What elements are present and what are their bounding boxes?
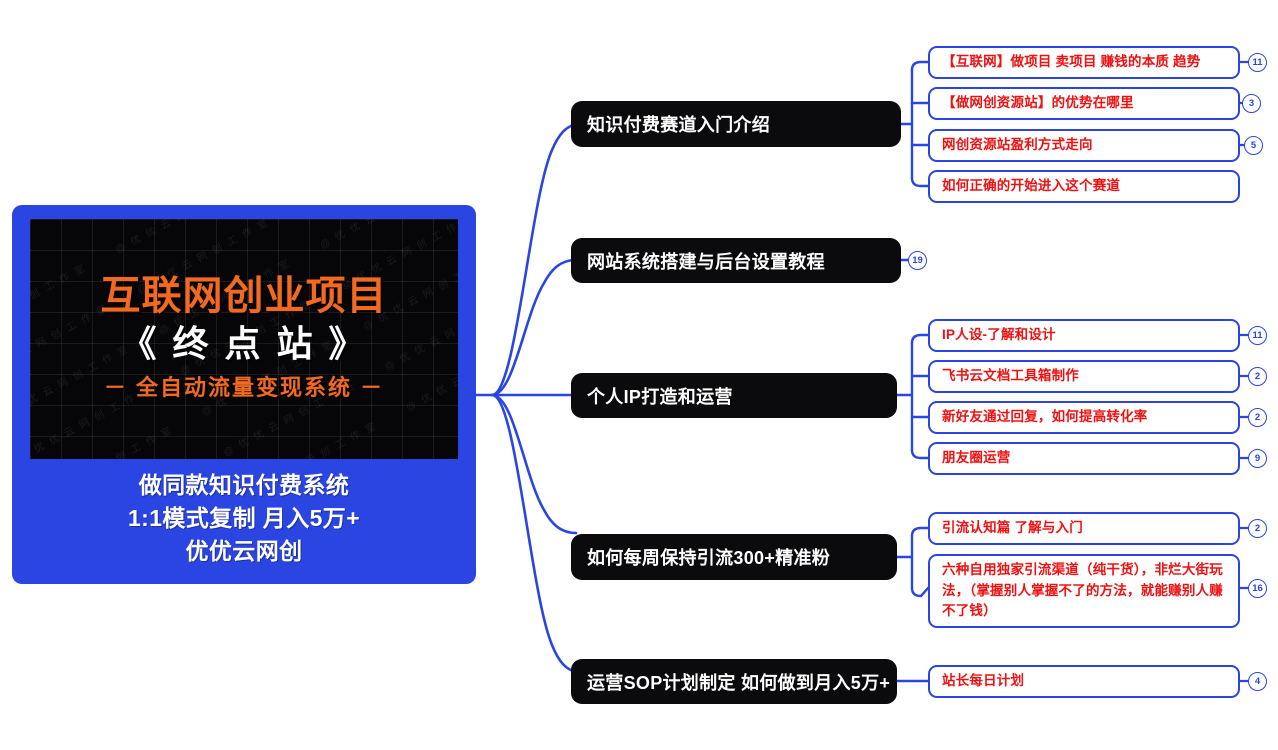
leaf-node-3-1[interactable]: IP人设-了解和设计 (928, 319, 1240, 352)
mindmap-canvas: @优优云网创工作室 @优优云网创工作室 @优优云网创工作室 @优优云网创工作室 … (0, 0, 1278, 750)
leaf-node-4-1-label: 引流认知篇 了解与入门 (942, 518, 1083, 539)
leaf-node-3-3[interactable]: 新好友通过回复，如何提高转化率 (928, 401, 1240, 434)
root-caption: 做同款知识付费系统 1:1模式复制 月入5万+ 优优云网创 (30, 459, 458, 574)
poster-title-line2: 《 终 点 站 》 (120, 321, 367, 368)
root-caption-line-2: 1:1模式复制 月入5万+ (128, 503, 360, 534)
branch-node-3[interactable]: 个人IP打造和运营 (571, 373, 897, 418)
leaf-badge-4-2: 16 (1248, 579, 1267, 598)
leaf-badge-1-3: 5 (1244, 136, 1263, 155)
leaf-node-1-4[interactable]: 如何正确的开始进入这个赛道 (928, 170, 1240, 203)
branch-node-4[interactable]: 如何每周保持引流300+精准粉 (571, 534, 897, 580)
leaf-node-5-1-label: 站长每日计划 (942, 671, 1024, 692)
root-node-card[interactable]: @优优云网创工作室 @优优云网创工作室 @优优云网创工作室 @优优云网创工作室 … (12, 205, 476, 584)
leaf-node-1-3[interactable]: 网创资源站盈利方式走向 (928, 129, 1240, 162)
root-caption-line-1: 做同款知识付费系统 (139, 470, 350, 501)
leaf-node-3-4[interactable]: 朋友圈运营 (928, 442, 1240, 475)
branch-badge-2: 19 (908, 251, 927, 270)
leaf-badge-3-3: 2 (1248, 408, 1267, 427)
branch-node-5-label: 运营SOP计划制定 如何做到月入5万+ (587, 669, 890, 695)
branch-node-2-label: 网站系统搭建与后台设置教程 (587, 248, 825, 274)
leaf-node-3-2-label: 飞书云文档工具箱制作 (942, 366, 1079, 387)
leaf-node-1-4-label: 如何正确的开始进入这个赛道 (942, 176, 1120, 197)
leaf-node-3-1-label: IP人设-了解和设计 (942, 325, 1056, 346)
leaf-badge-3-1: 11 (1248, 326, 1267, 345)
leaf-node-4-2-label: 六种自用独家引流渠道（纯干货），非烂大街玩法，（掌握别人掌握不了的方法，就能赚别… (942, 560, 1226, 623)
leaf-node-1-1[interactable]: 【互联网】做项目 卖项目 赚钱的本质 趋势 (928, 46, 1240, 79)
leaf-badge-3-4: 9 (1248, 449, 1267, 468)
leaf-node-1-1-label: 【互联网】做项目 卖项目 赚钱的本质 趋势 (942, 52, 1200, 73)
root-caption-line-3: 优优云网创 (186, 536, 303, 567)
leaf-node-4-2[interactable]: 六种自用独家引流渠道（纯干货），非烂大街玩法，（掌握别人掌握不了的方法，就能赚别… (928, 554, 1240, 628)
branch-node-2[interactable]: 网站系统搭建与后台设置教程 (571, 238, 901, 283)
leaf-node-4-1[interactable]: 引流认知篇 了解与入门 (928, 512, 1240, 545)
leaf-badge-1-1: 11 (1248, 53, 1267, 72)
leaf-badge-4-1: 2 (1248, 519, 1267, 538)
leaf-node-1-3-label: 网创资源站盈利方式走向 (942, 135, 1093, 156)
leaf-badge-3-2: 2 (1248, 367, 1267, 386)
leaf-node-1-2-label: 【做网创资源站】的优势在哪里 (942, 93, 1134, 114)
branch-node-5[interactable]: 运营SOP计划制定 如何做到月入5万+ (571, 659, 897, 704)
branch-node-3-label: 个人IP打造和运营 (587, 383, 733, 409)
leaf-badge-5-1: 4 (1248, 672, 1267, 691)
leaf-node-3-3-label: 新好友通过回复，如何提高转化率 (942, 407, 1148, 428)
poster-title-line1: 互联网创业项目 (101, 274, 388, 319)
leaf-badge-1-2: 3 (1242, 94, 1261, 113)
poster-title-line3: － 全自动流量变现系统 － (104, 373, 384, 404)
leaf-node-1-2[interactable]: 【做网创资源站】的优势在哪里 (928, 87, 1240, 120)
branch-node-1-label: 知识付费赛道入门介绍 (587, 111, 770, 137)
branch-node-4-label: 如何每周保持引流300+精准粉 (587, 544, 830, 570)
leaf-node-3-4-label: 朋友圈运营 (942, 448, 1011, 469)
poster-image: @优优云网创工作室 @优优云网创工作室 @优优云网创工作室 @优优云网创工作室 … (30, 219, 458, 459)
branch-node-1[interactable]: 知识付费赛道入门介绍 (571, 101, 901, 147)
leaf-node-3-2[interactable]: 飞书云文档工具箱制作 (928, 360, 1240, 393)
leaf-node-5-1[interactable]: 站长每日计划 (928, 665, 1240, 698)
